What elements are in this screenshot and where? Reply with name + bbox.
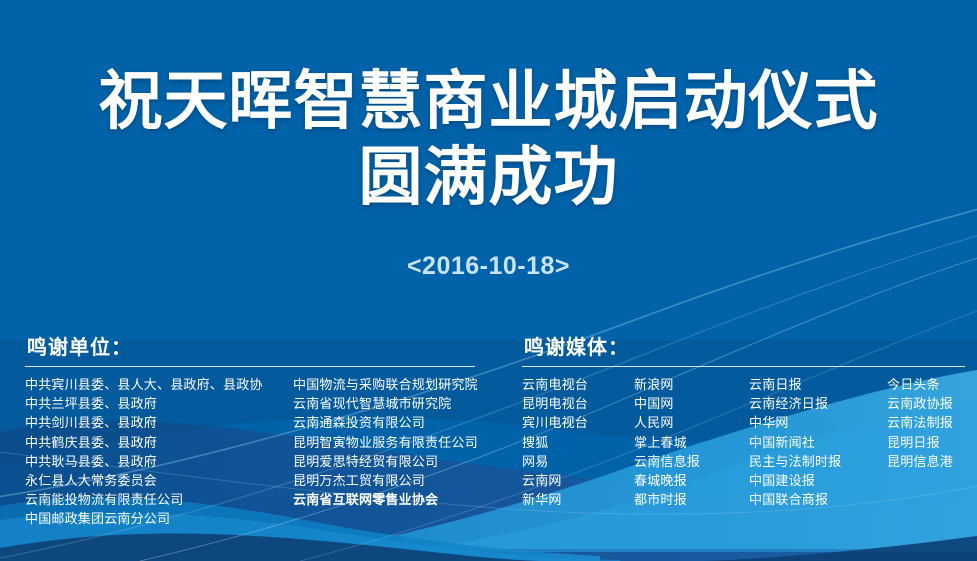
list-item: 搜狐 [522, 433, 634, 452]
list-item: 云南政协报 [887, 394, 967, 413]
list-item: 中国物流与采购联合规划研究院 [293, 375, 480, 394]
list-item: 都市时报 [634, 490, 749, 509]
section-acknowledged-units: 鸣谢单位： 中共宾川县委、县人大、县政府、县政协 中共兰坪县委、县政府 中共剑川… [25, 336, 480, 529]
list-item: 昆明万杰工贸有限公司 [293, 471, 480, 490]
list-item: 昆明信息港 [887, 452, 967, 471]
units-column-b: 中国物流与采购联合规划研究院 云南省现代智慧城市研究院 云南通森投资有限公司 昆… [293, 375, 480, 509]
list-item: 昆明爱思特经贸有限公司 [293, 452, 480, 471]
section-title-media: 鸣谢媒体： [524, 336, 967, 360]
list-item: 网易 [522, 452, 634, 471]
list-item-highlighted: 云南省互联网零售业协会 [293, 490, 480, 509]
list-item: 新华网 [522, 490, 634, 509]
headline-line-2: 圆满成功 [0, 138, 977, 216]
list-item: 昆明智寅物业服务有限责任公司 [293, 433, 480, 452]
list-item: 宾川电视台 [522, 413, 634, 432]
list-item: 云南省现代智慧城市研究院 [293, 394, 480, 413]
units-columns: 中共宾川县委、县人大、县政府、县政协 中共兰坪县委、县政府 中共剑川县委、县政府… [25, 375, 480, 529]
section-acknowledged-media: 鸣谢媒体： 云南电视台 昆明电视台 宾川电视台 搜狐 网易 云南网 新华网 新浪… [522, 336, 967, 509]
section-title-units: 鸣谢单位： [27, 336, 480, 360]
list-item: 人民网 [634, 413, 749, 432]
units-column-a: 中共宾川县委、县人大、县政府、县政协 中共兰坪县委、县政府 中共剑川县委、县政府… [25, 375, 293, 529]
list-item: 云南通森投资有限公司 [293, 413, 480, 432]
section-divider-media [522, 366, 965, 367]
media-column-2: 新浪网 中国网 人民网 掌上春城 云南信息报 春城晚报 都市时报 [634, 375, 749, 509]
list-item: 掌上春城 [634, 433, 749, 452]
list-item: 昆明电视台 [522, 394, 634, 413]
poster-canvas: 祝天晖智慧商业城启动仪式 圆满成功 <2016-10-18> 鸣谢单位： 中共宾… [0, 0, 977, 561]
media-column-4: 今日头条 云南政协报 云南法制报 昆明日报 昆明信息港 [887, 375, 967, 471]
list-item: 中华网 [749, 413, 887, 432]
credits-area: 鸣谢单位： 中共宾川县委、县人大、县政府、县政协 中共兰坪县委、县政府 中共剑川… [0, 336, 977, 561]
list-item: 中共剑川县委、县政府 [25, 413, 293, 432]
list-item: 中国联合商报 [749, 490, 887, 509]
list-item: 中共兰坪县委、县政府 [25, 394, 293, 413]
media-column-1: 云南电视台 昆明电视台 宾川电视台 搜狐 网易 云南网 新华网 [522, 375, 634, 509]
list-item: 永仁县人大常务委员会 [25, 471, 293, 490]
list-item: 中共宾川县委、县人大、县政府、县政协 [25, 375, 293, 394]
list-item: 云南日报 [749, 375, 887, 394]
list-item: 云南网 [522, 471, 634, 490]
list-item: 新浪网 [634, 375, 749, 394]
list-item: 中国邮政集团云南分公司 [25, 509, 293, 528]
list-item: 云南电视台 [522, 375, 634, 394]
poster-headline: 祝天晖智慧商业城启动仪式 圆满成功 [0, 62, 977, 216]
list-item: 中国网 [634, 394, 749, 413]
media-column-3: 云南日报 云南经济日报 中华网 中国新闻社 民主与法制时报 中国建设报 中国联合… [749, 375, 887, 509]
headline-line-1: 祝天晖智慧商业城启动仪式 [0, 62, 977, 140]
list-item: 中共耿马县委、县政府 [25, 452, 293, 471]
list-item: 春城晚报 [634, 471, 749, 490]
list-item: 云南经济日报 [749, 394, 887, 413]
media-columns: 云南电视台 昆明电视台 宾川电视台 搜狐 网易 云南网 新华网 新浪网 中国网 … [522, 375, 967, 509]
list-item: 中国建设报 [749, 471, 887, 490]
list-item: 云南法制报 [887, 413, 967, 432]
list-item: 云南信息报 [634, 452, 749, 471]
list-item: 中国新闻社 [749, 433, 887, 452]
list-item: 昆明日报 [887, 433, 967, 452]
list-item: 云南能投物流有限责任公司 [25, 490, 293, 509]
section-divider-units [25, 366, 475, 367]
list-item: 中共鹤庆县委、县政府 [25, 433, 293, 452]
event-date: <2016-10-18> [0, 252, 977, 281]
list-item: 民主与法制时报 [749, 452, 887, 471]
list-item: 今日头条 [887, 375, 967, 394]
